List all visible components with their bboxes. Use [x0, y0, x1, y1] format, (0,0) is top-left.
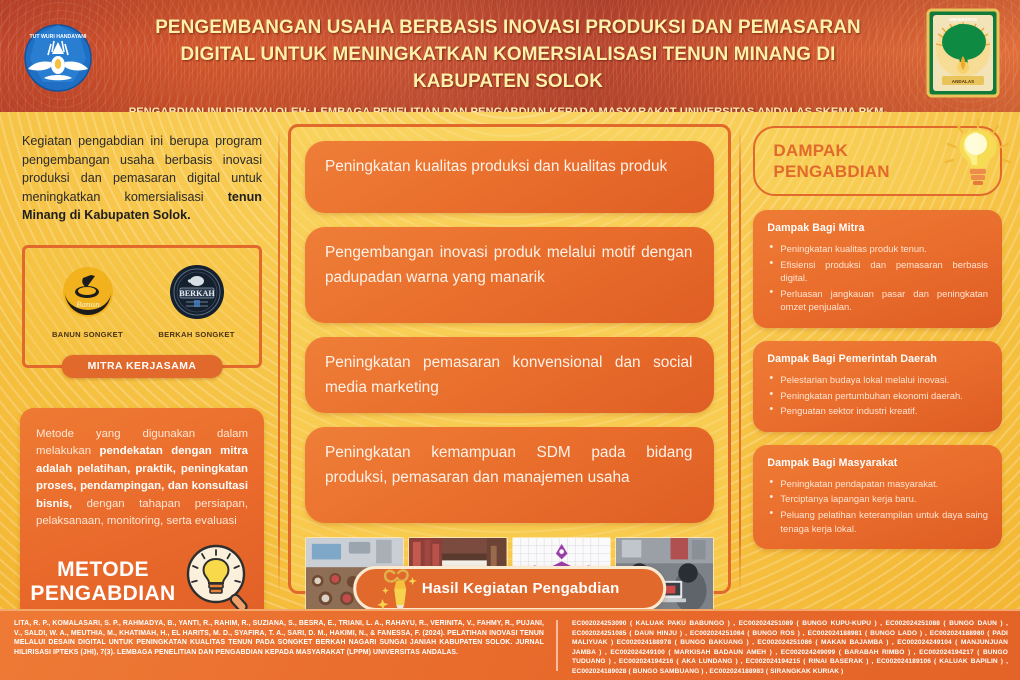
funding-statement: PENGABDIAN INI DIBIAYAI OLEH: LEMBAGA PE… [116, 104, 900, 112]
banun-songket-logo: Banun [57, 262, 119, 324]
intro-paragraph: Kegiatan pengabdian ini berupa program p… [18, 126, 266, 225]
right-column: DAMPAK PENGABDIAN [743, 118, 1012, 609]
poster-header: TUT WURI HANDAYANI PENGEMBANGAN USAHA BE… [0, 0, 1020, 112]
metode-pengabdian-card: Metode yang digunakan dalam melakukan pe… [20, 408, 264, 633]
intro-text-plain: Kegiatan pengabdian ini berupa program p… [22, 134, 262, 204]
metode-title-line-1: METODE [30, 558, 175, 582]
list-item: Peningkatan pertumbuhan ekonomi daerah. [767, 389, 988, 403]
dampak-title-line-1: DAMPAK [773, 140, 930, 161]
metode-title-line-2: PENGABDIAN [30, 582, 175, 606]
poster-root: TUT WURI HANDAYANI PENGEMBANGAN USAHA BE… [0, 0, 1020, 680]
svg-text:BERKAH: BERKAH [179, 289, 215, 298]
header-title-block: PENGEMBANGAN USAHA BERBASIS INOVASI PROD… [108, 14, 908, 112]
program-box-2: Pengembangan inovasi produk melalui moti… [305, 227, 714, 323]
universitas-andalas-logo: ANDALAS UNIVERSITAS [918, 4, 1008, 108]
lightbulb-icon [942, 116, 1014, 196]
mitra-kerjasama-pill: MITRA KERJASAMA [62, 355, 223, 378]
list-item: Peningkatan pendapatan masyarakat. [767, 477, 988, 491]
page-title: PENGEMBANGAN USAHA BERBASIS INOVASI PROD… [120, 14, 896, 95]
column-divider-left [278, 128, 280, 593]
hasil-kegiatan-pill: Hasil Kegiatan Pengabdian [353, 566, 667, 611]
program-frame: Peningkatan kualitas produksi dan kualit… [288, 124, 731, 594]
column-divider-right [739, 128, 741, 593]
svg-text:TUT WURI HANDAYANI: TUT WURI HANDAYANI [30, 34, 88, 40]
dampak-card-mitra: Dampak Bagi Mitra Peningkatan kualitas p… [753, 210, 1002, 328]
list-item: Peluang pelatihan keterampilan untuk day… [767, 508, 988, 535]
svg-text:ANDALAS: ANDALAS [952, 79, 974, 84]
program-box-1: Peningkatan kualitas produksi dan kualit… [305, 141, 714, 213]
middle-column: Peningkatan kualitas produksi dan kualit… [282, 118, 737, 609]
dampak-card-title: Dampak Bagi Masyarakat [767, 457, 988, 469]
list-item: Peningkatan kualitas produk tenun. [767, 242, 988, 256]
metode-paragraph: Metode yang digunakan dalam melakukan pe… [36, 426, 248, 530]
tut-wuri-handayani-logo: TUT WURI HANDAYANI [18, 12, 98, 100]
list-item: Penguatan sektor industri kreatif. [767, 404, 988, 418]
dampak-header: DAMPAK PENGABDIAN [753, 126, 1002, 196]
hasil-kegiatan-label: Hasil Kegiatan Pengabdian [422, 580, 620, 597]
dampak-title-line-2: PENGABDIAN [773, 161, 930, 182]
mitra-card: Banun BANUN SONGKET [22, 245, 262, 368]
list-item: Efisiensi produksi dan pemasaran berbasi… [767, 258, 988, 285]
dampak-title: DAMPAK PENGABDIAN [773, 140, 930, 182]
mitra-logo-row: Banun BANUN SONGKET [33, 262, 251, 339]
metode-title: METODE PENGABDIAN [30, 558, 175, 606]
dampak-card-masyarakat: Dampak Bagi Masyarakat Peningkatan penda… [753, 445, 1002, 549]
motif-codes-text: EC002024253090 ( KALUAK PAKU BABUNGO ) ,… [558, 611, 1020, 680]
dampak-card-list: Peningkatan pendapatan masyarakat. Terci… [767, 477, 988, 535]
list-item: Perluasan jangkauan pasar dan peningkata… [767, 287, 988, 314]
program-box-4: Peningkatan kemampuan SDM pada bidang pr… [305, 427, 714, 523]
dampak-card-list: Peningkatan kualitas produk tenun. Efisi… [767, 242, 988, 314]
poster-body: Kegiatan pengabdian ini berupa program p… [0, 112, 1020, 609]
dampak-card-list: Pelestarian budaya lokal melalui inovasi… [767, 373, 988, 418]
poster-footer: LITA, R. P., KOMALASARI, S. P., RAHMADYA… [0, 609, 1020, 680]
left-column: Kegiatan pengabdian ini berupa program p… [8, 118, 276, 609]
program-box-3: Peningkatan pemasaran konvensional dan s… [305, 337, 714, 413]
mitra-label: BERKAH SONGKET [147, 330, 247, 339]
mitra-partner-banun: Banun BANUN SONGKET [38, 262, 138, 339]
berkah-songket-logo: BERKAH [166, 262, 228, 324]
mitra-partner-berkah: BERKAH BERKAH SONGKET [147, 262, 247, 339]
svg-text:Banun: Banun [75, 300, 100, 309]
dampak-card-title: Dampak Bagi Mitra [767, 222, 988, 234]
mitra-label: BANUN SONGKET [38, 330, 138, 339]
list-item: Pelestarian budaya lokal melalui inovasi… [767, 373, 988, 387]
dampak-card-pemerintah: Dampak Bagi Pemerintah Daerah Pelestaria… [753, 341, 1002, 432]
svg-text:UNIVERSITAS: UNIVERSITAS [949, 17, 977, 22]
dampak-card-title: Dampak Bagi Pemerintah Daerah [767, 353, 988, 365]
reference-text: LITA, R. P., KOMALASARI, S. P., RAHMADYA… [0, 611, 556, 680]
list-item: Terciptanya lapangan kerja baru. [767, 492, 988, 506]
